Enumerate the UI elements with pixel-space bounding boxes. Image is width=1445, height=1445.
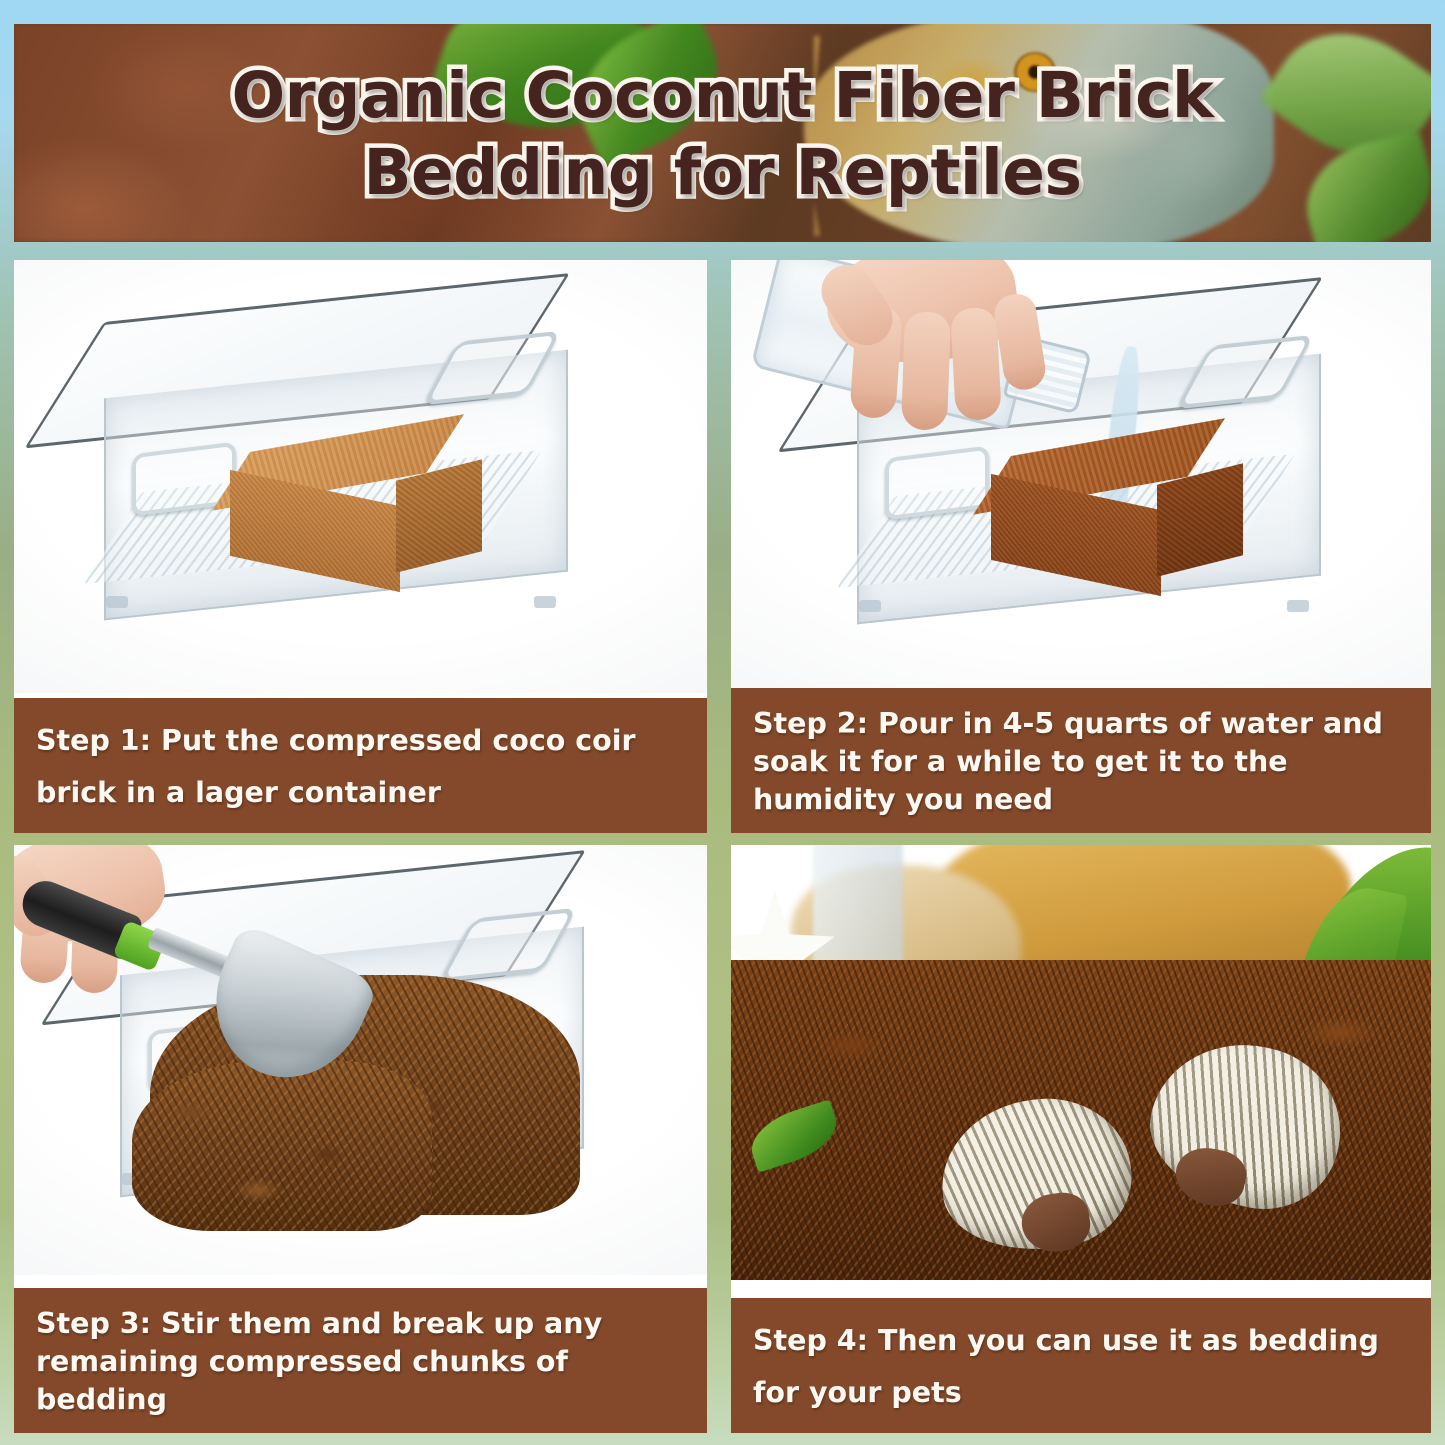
hand-finger [950, 307, 1002, 421]
step-panel-2: Step 2: Pour in 4-5 quarts of water and … [731, 260, 1431, 833]
coco-coir-brick [230, 452, 480, 580]
step-3-photo [14, 845, 707, 1275]
page-title: Organic Coconut Fiber Brick Bedding for … [14, 58, 1431, 212]
step-panel-1: Step 1: Put the compressed coco coir bri… [14, 260, 707, 833]
terrarium-scene [731, 845, 1431, 1280]
coco-coir-brick [991, 456, 1241, 584]
brick-side-face [1157, 463, 1243, 576]
bin-handle-left [885, 446, 989, 521]
header-banner: Organic Coconut Fiber Brick Bedding for … [14, 24, 1431, 242]
bin-foot-left [859, 600, 881, 612]
brick-front-face [991, 474, 1161, 596]
hand-finger [992, 291, 1049, 392]
step-2-photo [731, 260, 1431, 693]
hand-finger [901, 311, 951, 431]
step-panel-4: Step 4: Then you can use it as bedding f… [731, 845, 1431, 1433]
infographic-root: Organic Coconut Fiber Brick Bedding for … [0, 0, 1445, 1445]
step-panel-3: Step 3: Stir them and break up any remai… [14, 845, 707, 1433]
hand [827, 260, 1087, 432]
step-4-photo [731, 845, 1431, 1280]
brick-side-face [396, 459, 482, 572]
garden-trowel [20, 865, 320, 1095]
hermit-crab [931, 1088, 1140, 1263]
step-1-caption: Step 1: Put the compressed coco coir bri… [14, 698, 707, 833]
step-4-caption: Step 4: Then you can use it as bedding f… [731, 1298, 1431, 1433]
step-1-photo [14, 260, 707, 693]
brick-front-face [230, 470, 400, 592]
bin-foot-left [106, 596, 128, 608]
step-3-caption: Step 3: Stir them and break up any remai… [14, 1288, 707, 1433]
bin-foot-right [1287, 600, 1309, 612]
bin-foot-right [534, 596, 556, 608]
step-2-caption: Step 2: Pour in 4-5 quarts of water and … [731, 688, 1431, 833]
